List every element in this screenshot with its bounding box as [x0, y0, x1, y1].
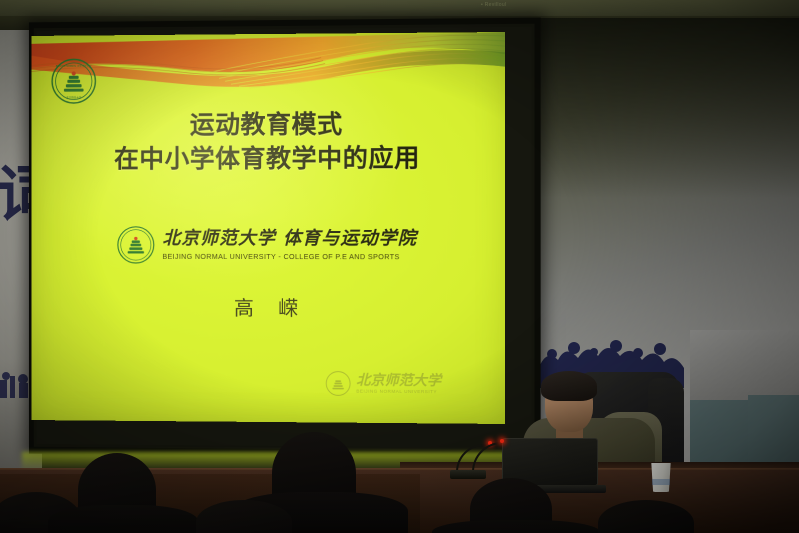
- presenter-name: 高 嵘: [32, 291, 506, 322]
- watermark-texts: 北京师范大学 BEIJING NORMAL UNIVERSITY: [356, 374, 441, 394]
- svg-text:BEIJING NORMAL UNIVERSITY: BEIJING NORMAL UNIVERSITY: [56, 65, 92, 68]
- watermark-name-en: BEIJING NORMAL UNIVERSITY: [356, 388, 441, 394]
- organization-name-cn: 北京师范大学 体育与运动学院: [162, 229, 417, 250]
- paper-cup[interactable]: [650, 463, 672, 492]
- watermark-name-cn: 北京师范大学: [356, 374, 441, 389]
- microphone-base-2: [466, 470, 486, 479]
- slide-title-line-1: 运动教育模式: [32, 107, 506, 143]
- organization-name-en: BEIJING NORMAL UNIVERSITY - COLLEGE OF P…: [162, 252, 399, 261]
- lecture-hall-photo: • Revilloul 词: [0, 0, 799, 533]
- college-seal-icon: [117, 226, 155, 264]
- audience-body-5: [432, 520, 600, 533]
- wall-panel-gray: [690, 330, 799, 402]
- microphone-led-2: [500, 439, 504, 443]
- university-seal-icon: BEIJING NORMAL UNIVERSITY 北京师范大学: [51, 58, 96, 104]
- slide-watermark: 北京师范大学 BEIJING NORMAL UNIVERSITY: [325, 370, 441, 397]
- slide-title-line-2: 在中小学体育教学中的应用: [32, 141, 506, 176]
- watermark-seal-icon: [325, 370, 351, 396]
- organization-texts: 北京师范大学 体育与运动学院 BEIJING NORMAL UNIVERSITY…: [162, 229, 417, 261]
- wall-right-shadow: [530, 18, 799, 198]
- slide-wave-banner: [32, 32, 506, 97]
- speaker-hair: [541, 371, 597, 401]
- audience-body-2: [48, 505, 198, 533]
- svg-text:北京师范大学: 北京师范大学: [66, 96, 82, 100]
- slide-title: 运动教育模式 在中小学体育教学中的应用: [32, 107, 506, 176]
- projector-label: • Revilloul: [481, 2, 506, 8]
- organization-lockup: 北京师范大学 体育与运动学院 BEIJING NORMAL UNIVERSITY…: [32, 226, 506, 264]
- paper-cup-band: [652, 479, 670, 485]
- presentation-slide[interactable]: BEIJING NORMAL UNIVERSITY 北京师范大学 运动教育模式 …: [32, 32, 506, 424]
